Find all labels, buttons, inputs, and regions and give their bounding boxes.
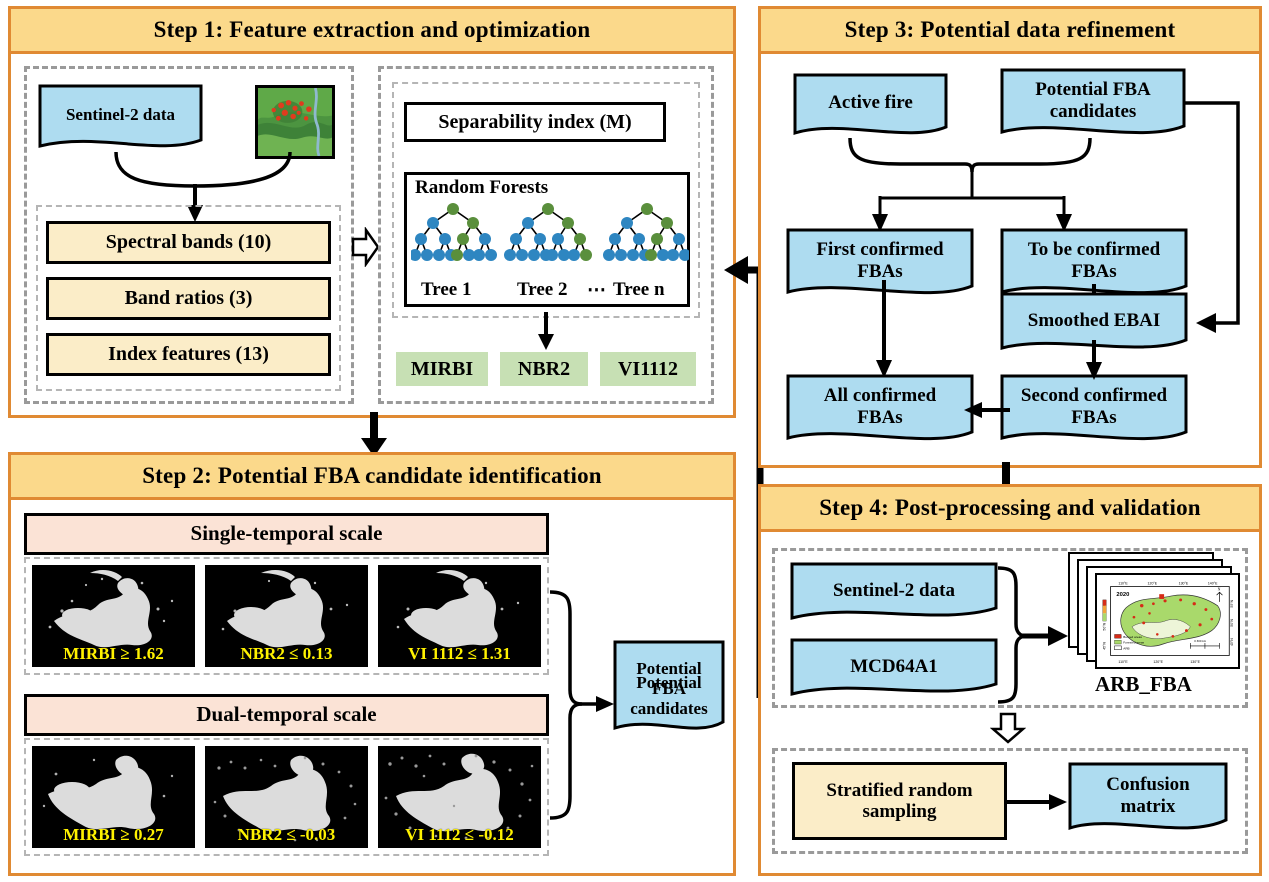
dual-temporal-caption-vi1112: VI 1112 ≤ -0.12 xyxy=(378,825,541,845)
single-temporal-scale-header: Single-temporal scale xyxy=(24,513,549,555)
svg-text:45°N: 45°N xyxy=(1230,638,1234,646)
step2-title: Step 2: Potential FBA candidate identifi… xyxy=(11,455,733,500)
svg-text:130°E: 130°E xyxy=(1179,582,1189,586)
svg-text:55°N: 55°N xyxy=(1230,599,1234,607)
tree-1-label: Tree 1 xyxy=(421,279,471,301)
svg-text:0 300 km: 0 300 km xyxy=(1194,639,1207,643)
random-forests-trees-graphic xyxy=(411,201,689,279)
single-temporal-caption-vi1112: VI 1112 ≤ 1.31 xyxy=(378,644,541,664)
potential-fba-candidates-step2-text: Potential FBA candidates xyxy=(613,648,725,730)
single-temporal-image-vi1112: VI 1112 ≤ 1.31 xyxy=(378,565,541,667)
svg-text:140°E: 140°E xyxy=(1208,582,1218,586)
single-temporal-caption-nbr2: NBR2 ≤ 0.13 xyxy=(205,644,368,664)
index-nbr2: NBR2 xyxy=(500,352,588,386)
hollow-arrow-right-step1 xyxy=(350,227,380,267)
tree-n-label: Tree n xyxy=(613,279,665,301)
svg-text:50°N: 50°N xyxy=(1230,619,1234,627)
ebai-to-second-confirmed-arrow xyxy=(1082,340,1106,382)
sentinel2-data-step4: Sentinel-2 data xyxy=(790,562,998,628)
random-forests-title: Random Forests xyxy=(415,177,548,199)
arb-fba-map-stack: 2020 110°E120°E 130°E140°E 110°E120°E130… xyxy=(1068,552,1240,670)
step2-merge-brace xyxy=(548,590,618,820)
stratified-random-sampling-box: Stratified random sampling xyxy=(792,762,1007,840)
satellite-image-thumbnail xyxy=(255,85,335,159)
svg-text:Forested areas: Forested areas xyxy=(1123,641,1144,645)
svg-text:130°E: 130°E xyxy=(1190,660,1200,664)
dual-temporal-image-vi1112: VI 1112 ≤ -0.12 xyxy=(378,746,541,848)
index-mirbi: MIRBI xyxy=(396,352,488,386)
index-vi1112: VI1112 xyxy=(600,352,696,386)
all-confirmed-fbas-shape: All confirmed FBAs xyxy=(786,374,974,450)
dual-temporal-scale-header: Dual-temporal scale xyxy=(24,694,549,736)
random-forests-box: Random Forests xyxy=(404,172,690,307)
second-confirmed-fbas-label: Second confirmed FBAs xyxy=(1000,374,1188,439)
feature-index-features: Index features (13) xyxy=(46,333,331,376)
svg-text:50°N: 50°N xyxy=(1103,622,1107,630)
confusion-matrix-label: Confusion matrix xyxy=(1068,762,1228,829)
svg-text:2020: 2020 xyxy=(1116,592,1129,598)
svg-text:110°E: 110°E xyxy=(1118,582,1128,586)
dual-temporal-caption-nbr2: NBR2 ≤ -0.03 xyxy=(205,825,368,845)
candidates-line-1: Potential xyxy=(636,659,701,679)
second-confirmed-fbas-shape: Second confirmed FBAs xyxy=(1000,374,1188,450)
svg-text:120°E: 120°E xyxy=(1148,582,1158,586)
confusion-matrix-shape: Confusion matrix xyxy=(1068,762,1228,840)
second-to-all-confirmed-arrow xyxy=(962,398,1010,422)
svg-text:120°E: 120°E xyxy=(1153,660,1163,664)
svg-text:ARB: ARB xyxy=(1123,646,1129,650)
svg-text:N: N xyxy=(1218,587,1221,591)
dual-temporal-image-nbr2: NBR2 ≤ -0.03 xyxy=(205,746,368,848)
all-confirmed-fbas-label: All confirmed FBAs xyxy=(786,374,974,439)
sampling-to-confusion-arrow xyxy=(1005,790,1069,814)
candidates-to-ebai-feedback xyxy=(1178,95,1254,335)
dual-temporal-caption-mirbi: MIRBI ≥ 0.27 xyxy=(32,825,195,845)
svg-text:110°E: 110°E xyxy=(1118,660,1128,664)
step3-top-brace xyxy=(840,136,1110,236)
step3-title: Step 3: Potential data refinement xyxy=(761,9,1259,54)
sentinel2-step4-label: Sentinel-2 data xyxy=(790,562,998,619)
dual-temporal-image-mirbi: MIRBI ≥ 0.27 xyxy=(32,746,195,848)
sentinel2-label: Sentinel-2 data xyxy=(38,84,203,146)
mcd64a1-label: MCD64A1 xyxy=(790,638,998,695)
sentinel2-data-shape: Sentinel-2 data xyxy=(38,84,203,156)
single-temporal-caption-mirbi: MIRBI ≥ 1.62 xyxy=(32,644,195,664)
svg-text:45°N: 45°N xyxy=(1103,642,1107,650)
active-fire-label: Active fire xyxy=(793,73,948,133)
single-temporal-image-mirbi: MIRBI ≥ 1.62 xyxy=(32,565,195,667)
tree-2-label: Tree 2 xyxy=(517,279,567,301)
hollow-arrow-down-step4 xyxy=(990,712,1026,744)
step1-title: Step 1: Feature extraction and optimizat… xyxy=(11,9,733,54)
candidates-line-3: candidates xyxy=(630,699,707,719)
single-temporal-image-nbr2: NBR2 ≤ 0.13 xyxy=(205,565,368,667)
svg-text:Burned areas: Burned areas xyxy=(1123,635,1142,639)
arb-fba-map-front: 2020 110°E120°E 130°E140°E 110°E120°E130… xyxy=(1095,573,1240,669)
potential-fba-candidates-step3-label: Potential FBA candidates xyxy=(1000,68,1186,133)
tree-ellipsis-label: ⋯ xyxy=(587,279,606,302)
feature-spectral-bands: Spectral bands (10) xyxy=(46,221,331,264)
first-confirmed-to-all-arrow xyxy=(872,280,896,380)
rf-to-indices-arrow xyxy=(534,312,558,352)
potential-fba-candidates-step3: Potential FBA candidates xyxy=(1000,68,1186,144)
candidates-line-2: FBA xyxy=(652,679,686,699)
arb-fba-label: ARB_FBA xyxy=(1095,672,1192,697)
feature-band-ratios: Band ratios (3) xyxy=(46,277,331,320)
step4-title: Step 4: Post-processing and validation xyxy=(761,487,1259,532)
separability-index-box: Separability index (M) xyxy=(404,102,666,142)
step4-inputs-brace xyxy=(996,566,1072,706)
mcd64a1-shape: MCD64A1 xyxy=(790,638,998,704)
active-fire-shape: Active fire xyxy=(793,73,948,143)
